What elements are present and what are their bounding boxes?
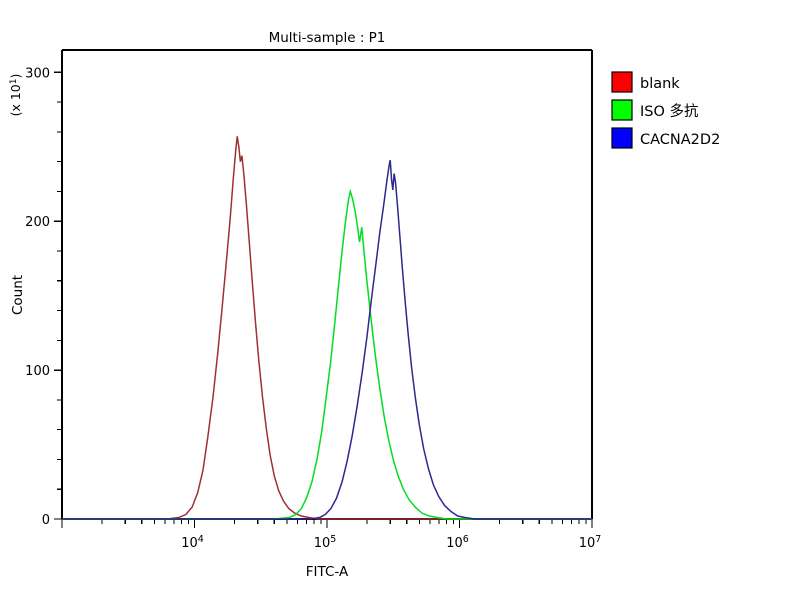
histogram-curve [62, 160, 592, 519]
page-title: Multi-sample : P1 [269, 30, 386, 46]
legend-label: CACNA2D2 [640, 132, 720, 148]
plot-frame [62, 50, 592, 519]
y-axis-ticks: 0100200300 [25, 66, 62, 528]
x-tick-label: 106 [446, 534, 469, 551]
x-tick-label: 105 [314, 534, 337, 551]
histogram-curve [62, 136, 592, 519]
legend-swatch [612, 72, 632, 92]
y-tick-label: 200 [25, 215, 50, 230]
histogram-curve [62, 191, 592, 519]
axes-group [62, 50, 592, 519]
x-axis-ticks: 104105106107 [62, 519, 601, 551]
x-axis-label: FITC-A [306, 564, 349, 580]
y-axis-label-group: Count [10, 275, 26, 315]
chart-title-group: Multi-sample : P1 [269, 30, 386, 46]
y-axis-multiplier: (x 101) [8, 74, 23, 117]
y-tick-label: 300 [25, 66, 50, 81]
x-tick-label: 104 [181, 534, 204, 551]
legend-swatch [612, 100, 632, 120]
chart-canvas: Multi-sample : P1 0100200300 10410510610… [0, 0, 800, 600]
y-axis-multiplier-group: (x 101) [8, 74, 23, 117]
legend: blankISO 多抗CACNA2D2 [612, 72, 720, 148]
x-axis-label-group: FITC-A [306, 564, 349, 580]
x-tick-label: 107 [579, 534, 602, 551]
flow-cytometry-histogram: Multi-sample : P1 0100200300 10410510610… [0, 0, 800, 600]
y-tick-label: 100 [25, 364, 50, 379]
legend-label: ISO 多抗 [640, 103, 699, 120]
legend-label: blank [640, 76, 680, 92]
legend-swatch [612, 128, 632, 148]
data-curves-group [62, 136, 592, 519]
y-tick-label: 0 [42, 513, 50, 528]
y-axis-label: Count [10, 275, 26, 315]
